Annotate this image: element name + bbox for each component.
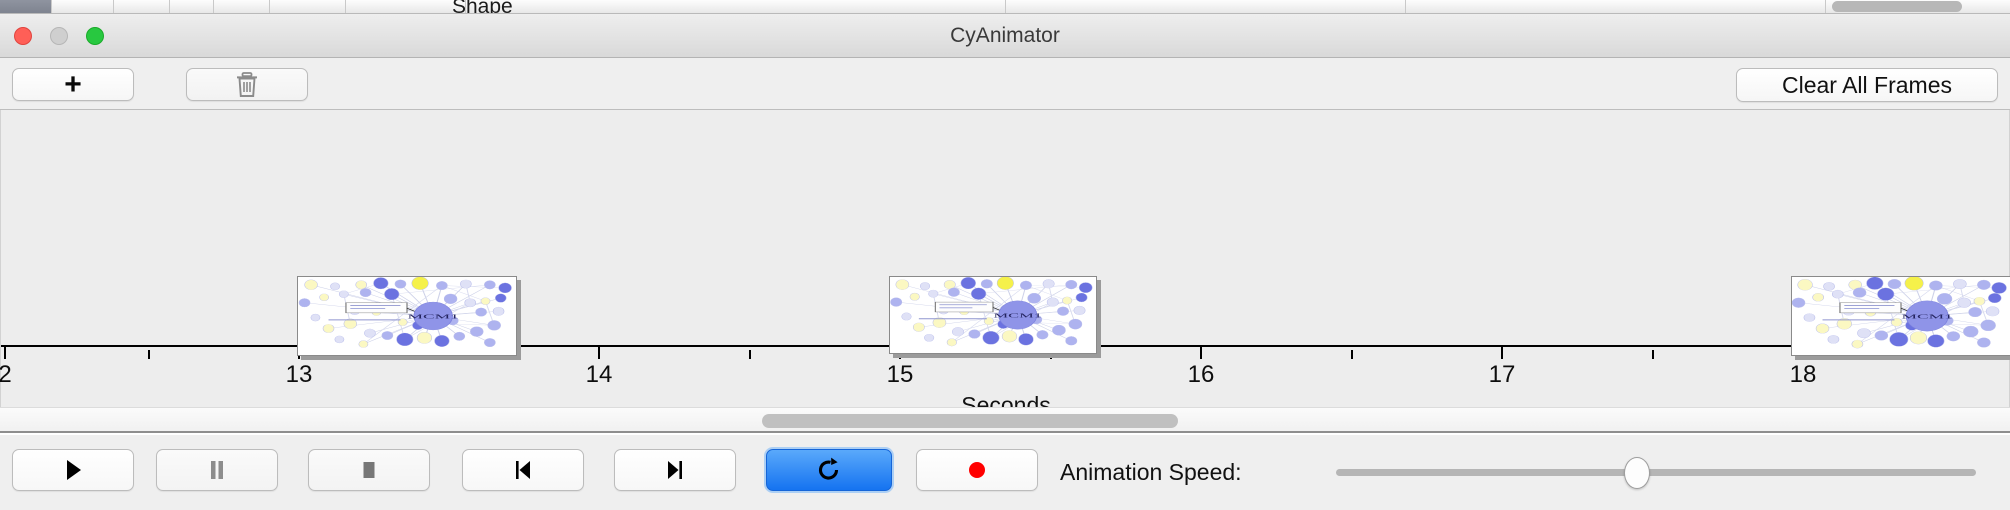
- animation-speed-slider[interactable]: [1336, 469, 1976, 476]
- skip-end-icon: [660, 455, 690, 485]
- axis-tick-minor: [1652, 350, 1654, 359]
- axis-tick-major: [1501, 345, 1503, 359]
- bg-cell: [170, 0, 214, 14]
- window-title: CyAnimator: [0, 14, 2010, 58]
- hub-node-label: MCM1: [1902, 313, 1953, 320]
- timeline-panel[interactable]: Seconds 2131415161718MCM1MCM1MCM1: [0, 110, 2010, 407]
- hub-node-label: MCM1: [993, 312, 1041, 319]
- stop-button: [308, 449, 430, 491]
- record-icon: [962, 455, 992, 485]
- transport-bar: Animation Speed:: [0, 435, 2010, 510]
- hub-node-label: MCM1: [408, 313, 459, 320]
- pause-icon: [202, 455, 232, 485]
- bg-cell: [1406, 0, 1826, 14]
- axis-tick-label: 16: [1188, 361, 1215, 389]
- background-app-label: Shape: [452, 0, 513, 14]
- bg-cell: [346, 0, 466, 14]
- bg-cell: [52, 0, 114, 14]
- timeline-frame-thumbnail[interactable]: MCM1: [297, 276, 517, 356]
- clear-all-frames-label: Clear All Frames: [1782, 72, 1952, 99]
- toolbar: + Clear All Frames: [0, 58, 2010, 110]
- background-scrollbar[interactable]: [1832, 1, 1962, 12]
- animation-speed-label: Animation Speed:: [1060, 459, 1242, 486]
- axis-tick-minor: [749, 350, 751, 359]
- timeline-frame-thumbnail[interactable]: MCM1: [1791, 276, 2010, 356]
- animation-speed-slider-thumb[interactable]: [1624, 457, 1650, 489]
- axis-tick-label: 17: [1489, 361, 1516, 389]
- thumbnail-network-graph: MCM1: [1791, 276, 2010, 356]
- axis-tick-label: 18: [1790, 361, 1817, 389]
- network-graph-canvas: MCM1: [1792, 277, 2010, 355]
- background-app-strip: Shape: [0, 0, 2010, 14]
- delete-frame-button[interactable]: [186, 68, 308, 101]
- plus-icon: +: [64, 70, 82, 100]
- play-icon: [58, 455, 88, 485]
- axis-tick-label: 14: [586, 361, 613, 389]
- skip-to-end-button[interactable]: [614, 449, 736, 491]
- loop-button[interactable]: [766, 449, 892, 491]
- thumbnail-network-graph: MCM1: [889, 276, 1097, 354]
- title-bar: CyAnimator: [0, 14, 2010, 58]
- clear-all-frames-button[interactable]: Clear All Frames: [1736, 68, 1998, 102]
- add-frame-button[interactable]: +: [12, 68, 134, 101]
- network-graph-canvas: MCM1: [890, 277, 1096, 353]
- cyanimator-window: Shape CyAnimator + Clear All Frames: [0, 0, 2010, 510]
- timeline-scrollbar[interactable]: [0, 407, 2010, 433]
- bg-cell: [214, 0, 270, 14]
- loop-icon: [814, 455, 844, 485]
- bg-cell: [466, 0, 1006, 14]
- record-button[interactable]: [916, 449, 1038, 491]
- bg-cell: [270, 0, 346, 14]
- axis-tick-major: [4, 345, 6, 359]
- pause-button: [156, 449, 278, 491]
- bg-cell: [1006, 0, 1406, 14]
- bg-cell: [0, 0, 52, 14]
- bg-cell: [114, 0, 170, 14]
- axis-tick-major: [598, 345, 600, 359]
- axis-tick-label: 13: [286, 361, 313, 389]
- play-button[interactable]: [12, 449, 134, 491]
- thumbnail-network-graph: MCM1: [297, 276, 517, 356]
- skip-start-icon: [508, 455, 538, 485]
- skip-to-start-button[interactable]: [462, 449, 584, 491]
- axis-tick-label: 2: [0, 361, 12, 389]
- axis-tick-label: 15: [887, 361, 914, 389]
- axis-tick-minor: [148, 350, 150, 359]
- scrollbar-thumb[interactable]: [762, 414, 1178, 428]
- axis-tick-major: [1200, 345, 1202, 359]
- axis-tick-minor: [1351, 350, 1353, 359]
- trash-icon: [234, 71, 260, 99]
- stop-icon: [354, 455, 384, 485]
- timeline-frame-thumbnail[interactable]: MCM1: [889, 276, 1097, 354]
- network-graph-canvas: MCM1: [298, 277, 516, 355]
